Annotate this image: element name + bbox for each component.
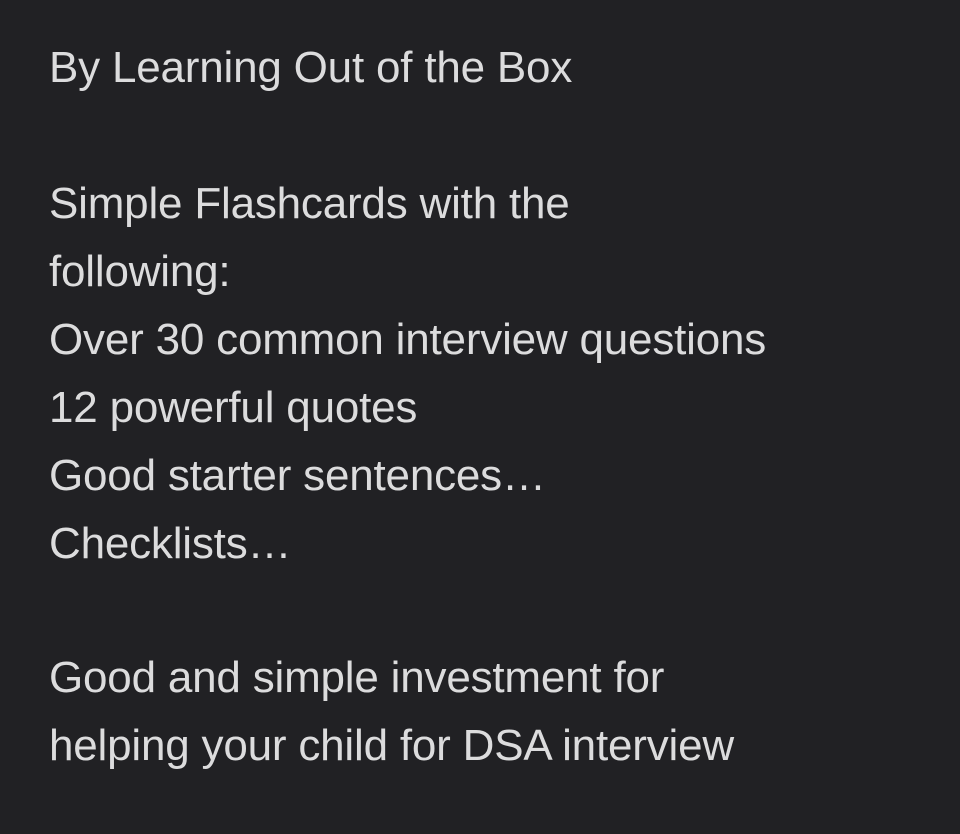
feature-item-checklists: Checklists… — [49, 510, 936, 578]
product-description-block: Simple Flashcards with the following: Ov… — [49, 170, 936, 578]
attribution-block: By Learning Out of the Box — [49, 34, 936, 102]
description-line-1: Simple Flashcards with the — [49, 170, 936, 238]
block-gap-two — [49, 578, 936, 644]
feature-item-starter-sentences: Good starter sentences… — [49, 442, 936, 510]
feature-item-interview-questions: Over 30 common interview questions — [49, 306, 936, 374]
attribution-line: By Learning Out of the Box — [49, 34, 936, 102]
feature-item-quotes: 12 powerful quotes — [49, 374, 936, 442]
block-gap-one — [49, 102, 936, 170]
closing-recommendation-block: Good and simple investment for helping y… — [49, 644, 936, 780]
text-post-screen: By Learning Out of the Box Simple Flashc… — [0, 0, 960, 834]
closing-line-1: Good and simple investment for — [49, 644, 936, 712]
description-line-2: following: — [49, 238, 936, 306]
closing-line-2: helping your child for DSA interview — [49, 712, 936, 780]
